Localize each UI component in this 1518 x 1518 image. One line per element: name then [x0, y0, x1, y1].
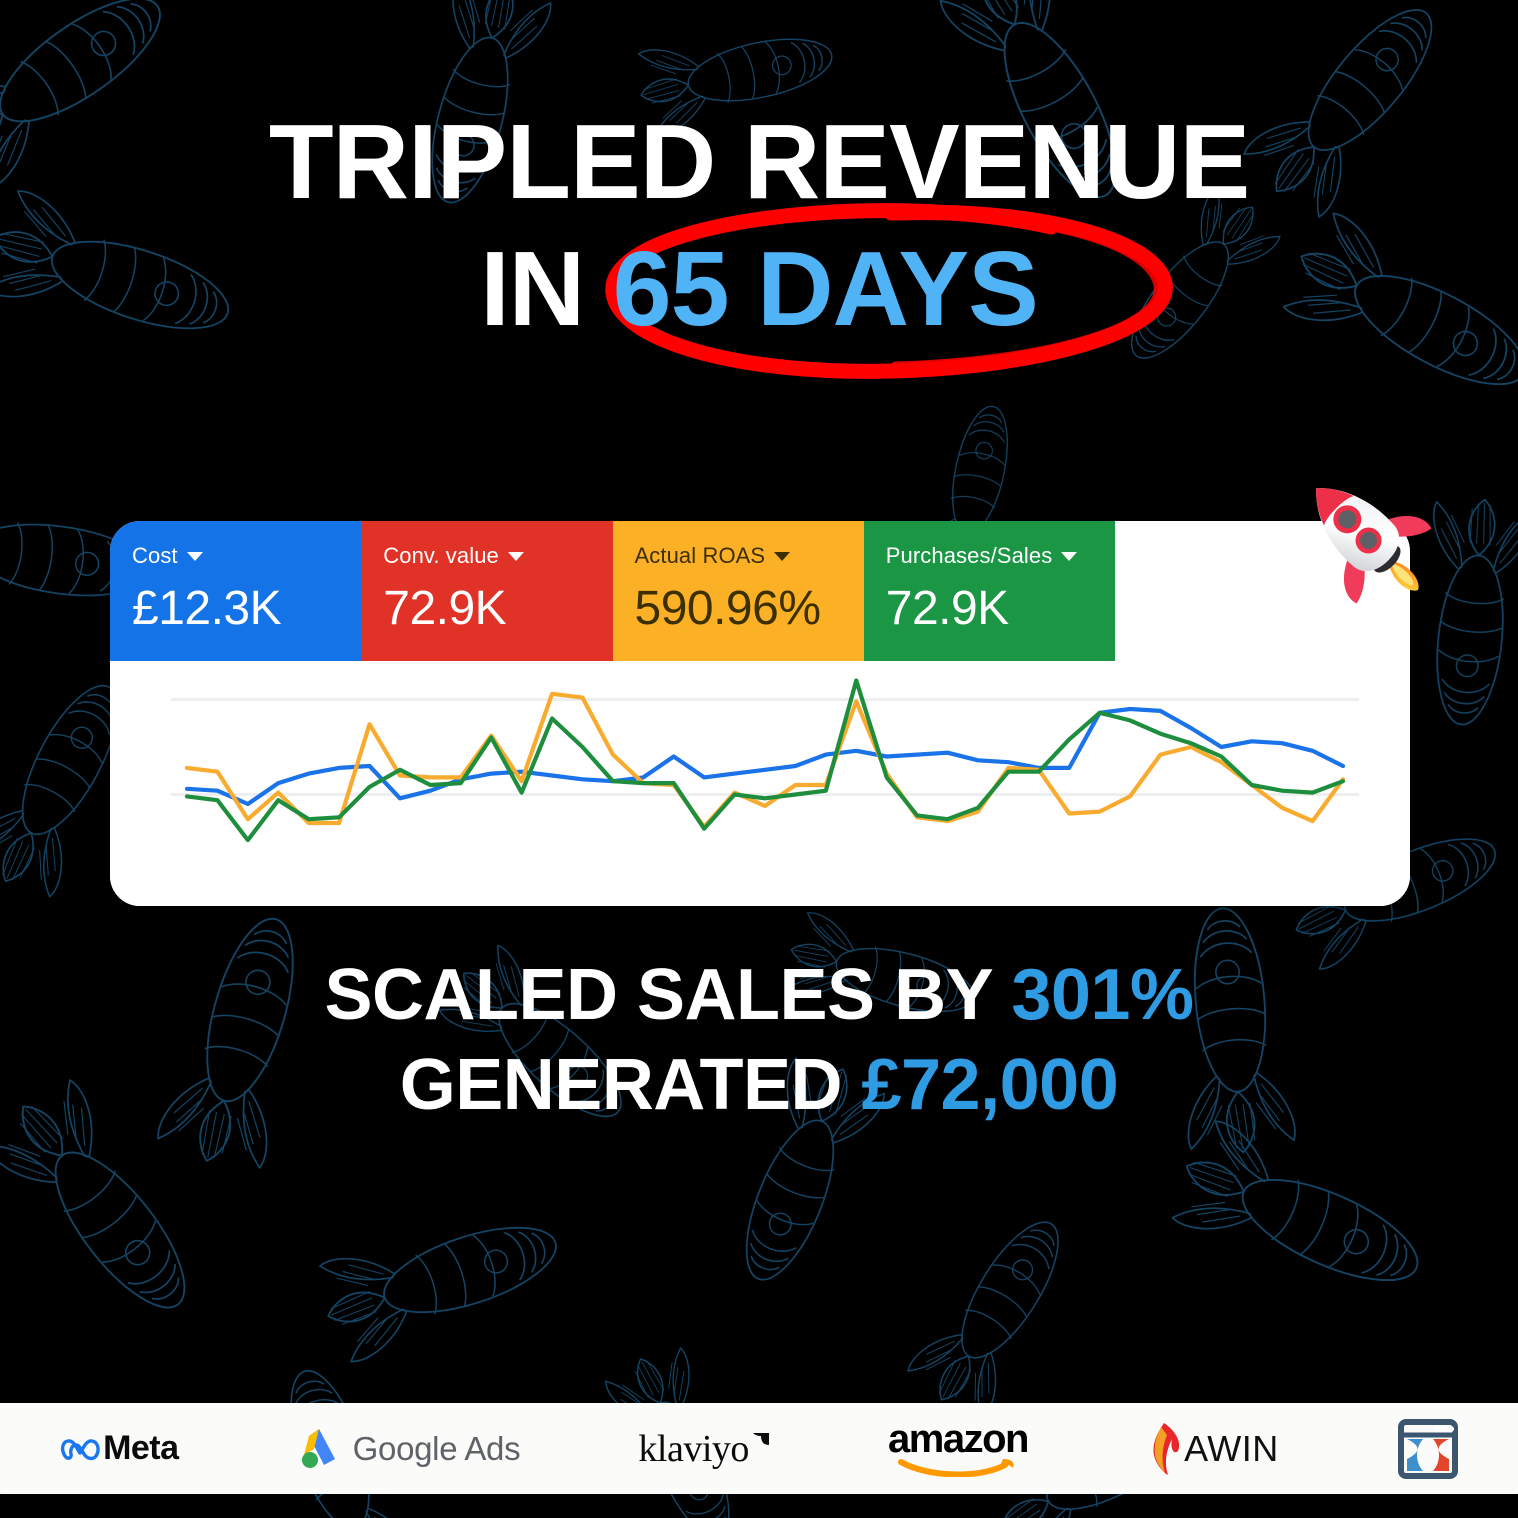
chevron-down-icon[interactable] — [508, 552, 524, 561]
amazon-smile-icon — [897, 1455, 1019, 1477]
metric-card-cost[interactable]: Cost £12.3K — [110, 521, 361, 661]
logo-google-ads-label: Google Ads — [353, 1430, 521, 1468]
partner-logo-bar: Meta Google Ads klaviyo amazon — [0, 1403, 1518, 1494]
chart-series-lines — [187, 681, 1343, 841]
performance-line-chart — [110, 661, 1410, 906]
logo-meta-label: Meta — [103, 1429, 178, 1468]
subtext-line-2-prefix: GENERATED — [400, 1045, 862, 1125]
metric-value: 72.9K — [383, 585, 612, 633]
logo-klaviyo: klaviyo — [638, 1419, 769, 1479]
metric-label: Actual ROAS — [635, 543, 766, 569]
logo-klaviyo-label: klaviyo — [638, 1427, 748, 1471]
subtext-block: SCALED SALES BY 301% GENERATED £72,000 — [0, 950, 1518, 1130]
meta-infinity-icon — [59, 1432, 103, 1466]
awin-flame-icon — [1146, 1421, 1186, 1477]
headline-line-2: IN 65 DAYS — [0, 235, 1518, 344]
metric-value: 590.96% — [635, 585, 864, 633]
logo-app-icon — [1397, 1419, 1459, 1479]
subtext-line-1: SCALED SALES BY 301% — [0, 950, 1518, 1040]
headline-highlight: 65 DAYS — [613, 230, 1038, 348]
logo-awin: AWIN — [1146, 1419, 1279, 1479]
headline-line-2-prefix: IN — [480, 230, 612, 348]
logo-amazon: amazon — [888, 1419, 1028, 1479]
promo-poster: TRIPLED REVENUE IN 65 DAYS Cost £12.3K C… — [0, 0, 1518, 1518]
klaviyo-mark-icon — [752, 1432, 770, 1450]
logo-google-ads: Google Ads — [297, 1419, 521, 1479]
chevron-down-icon[interactable] — [187, 552, 203, 561]
metric-card-conv-value[interactable]: Conv. value 72.9K — [361, 521, 612, 661]
metric-label: Cost — [132, 543, 178, 569]
headline-line-1: TRIPLED REVENUE — [0, 108, 1518, 217]
subtext-line-2: GENERATED £72,000 — [0, 1040, 1518, 1130]
chart-gridlines — [171, 700, 1359, 795]
chart-area — [110, 661, 1410, 906]
headline-block: TRIPLED REVENUE IN 65 DAYS — [0, 108, 1518, 344]
subtext-line-2-accent: £72,000 — [861, 1045, 1118, 1125]
metric-card-purchases-sales[interactable]: Purchases/Sales 72.9K — [864, 521, 1115, 661]
metric-value: £12.3K — [132, 585, 361, 633]
logo-amazon-label: amazon — [888, 1421, 1028, 1457]
metric-row: Cost £12.3K Conv. value 72.9K Actual ROA… — [110, 521, 1115, 661]
logo-meta: Meta — [59, 1419, 178, 1479]
browser-gears-icon — [1397, 1418, 1459, 1480]
dashboard-card: Cost £12.3K Conv. value 72.9K Actual ROA… — [110, 521, 1410, 906]
metric-card-actual-roas[interactable]: Actual ROAS 590.96% — [613, 521, 864, 661]
metric-value: 72.9K — [886, 585, 1115, 633]
subtext-line-1-accent: 301% — [1011, 955, 1193, 1035]
logo-awin-label: AWIN — [1184, 1428, 1279, 1470]
metric-label: Conv. value — [383, 543, 499, 569]
chevron-down-icon[interactable] — [1061, 552, 1077, 561]
metric-label: Purchases/Sales — [886, 543, 1053, 569]
google-ads-icon — [297, 1427, 343, 1471]
chevron-down-icon[interactable] — [774, 552, 790, 561]
subtext-line-1-prefix: SCALED SALES BY — [325, 955, 1012, 1035]
